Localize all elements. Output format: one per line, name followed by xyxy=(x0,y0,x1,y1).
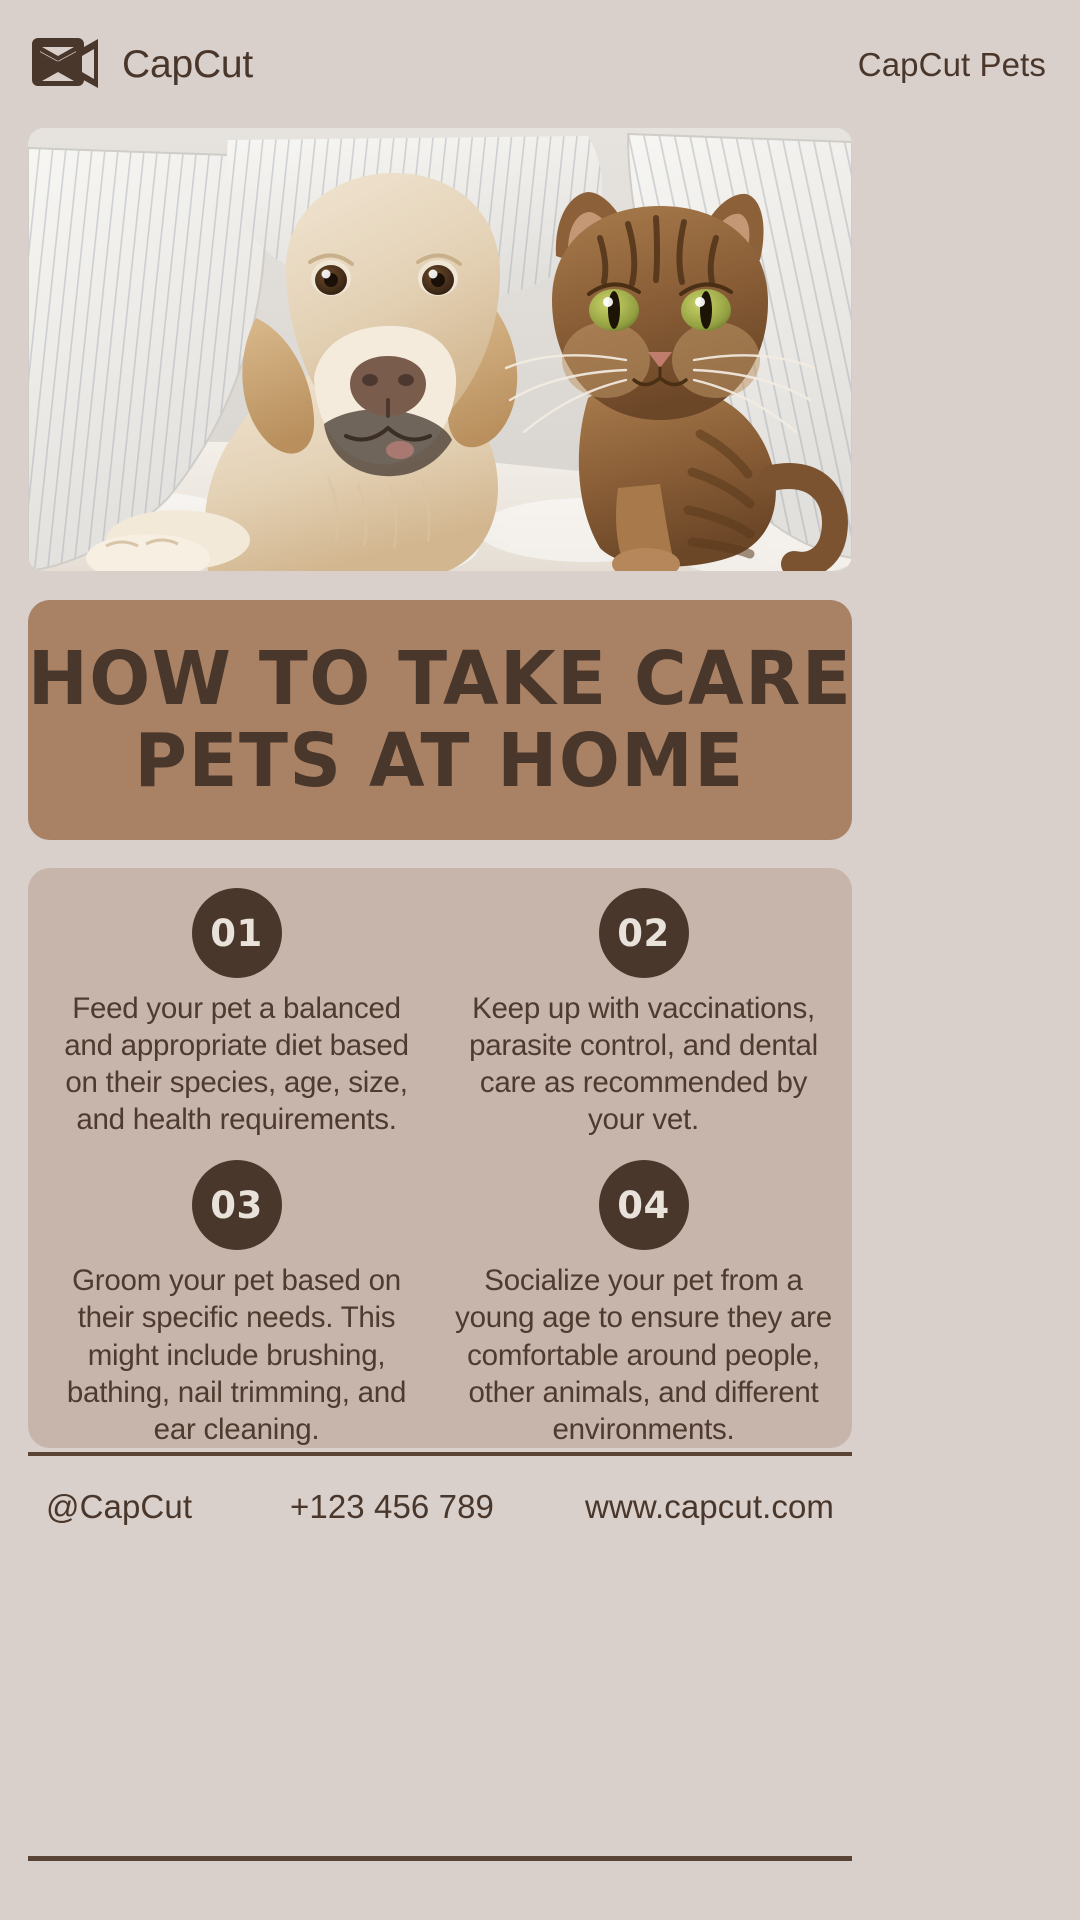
tip-item-04: 04 Socialize your pet from a young age t… xyxy=(449,1140,838,1448)
tip-text: Feed your pet a balanced and appropriate… xyxy=(42,990,431,1139)
brand-name: CapCut xyxy=(122,45,253,84)
title-banner: HOW TO TAKE CARE PETS AT HOME xyxy=(28,600,852,840)
tips-card: 01 Feed your pet a balanced and appropri… xyxy=(28,868,852,1448)
title-line-2: PETS AT HOME xyxy=(135,720,745,802)
footer-website[interactable]: www.capcut.com xyxy=(585,1488,834,1526)
footer: @CapCut +123 456 789 www.capcut.com xyxy=(28,1452,852,1562)
brand[interactable]: CapCut xyxy=(30,34,253,94)
tip-text: Keep up with vaccinations, parasite cont… xyxy=(449,990,838,1139)
tip-number-badge: 01 xyxy=(192,888,282,978)
tip-item-02: 02 Keep up with vaccinations, parasite c… xyxy=(449,868,838,1140)
infographic-page: CapCut CapCut Pets xyxy=(0,0,1080,1920)
hero-image xyxy=(28,128,852,571)
tip-text: Groom your pet based on their specific n… xyxy=(42,1262,431,1448)
footer-social-handle[interactable]: @CapCut xyxy=(46,1488,192,1526)
tip-item-01: 01 Feed your pet a balanced and appropri… xyxy=(42,868,431,1140)
capcut-logo-icon xyxy=(30,34,104,94)
tip-item-03: 03 Groom your pet based on their specifi… xyxy=(42,1140,431,1448)
tip-text: Socialize your pet from a young age to e… xyxy=(449,1262,838,1448)
header-right-label: CapCut Pets xyxy=(858,48,1046,81)
footer-divider-bottom xyxy=(28,1856,852,1861)
tip-number-badge: 03 xyxy=(192,1160,282,1250)
tips-grid: 01 Feed your pet a balanced and appropri… xyxy=(28,868,852,1448)
tip-number-badge: 04 xyxy=(599,1160,689,1250)
title-line-1: HOW TO TAKE CARE xyxy=(28,638,853,720)
footer-phone-number[interactable]: +123 456 789 xyxy=(290,1488,494,1526)
tip-number-badge: 02 xyxy=(599,888,689,978)
header: CapCut CapCut Pets xyxy=(0,0,1080,128)
